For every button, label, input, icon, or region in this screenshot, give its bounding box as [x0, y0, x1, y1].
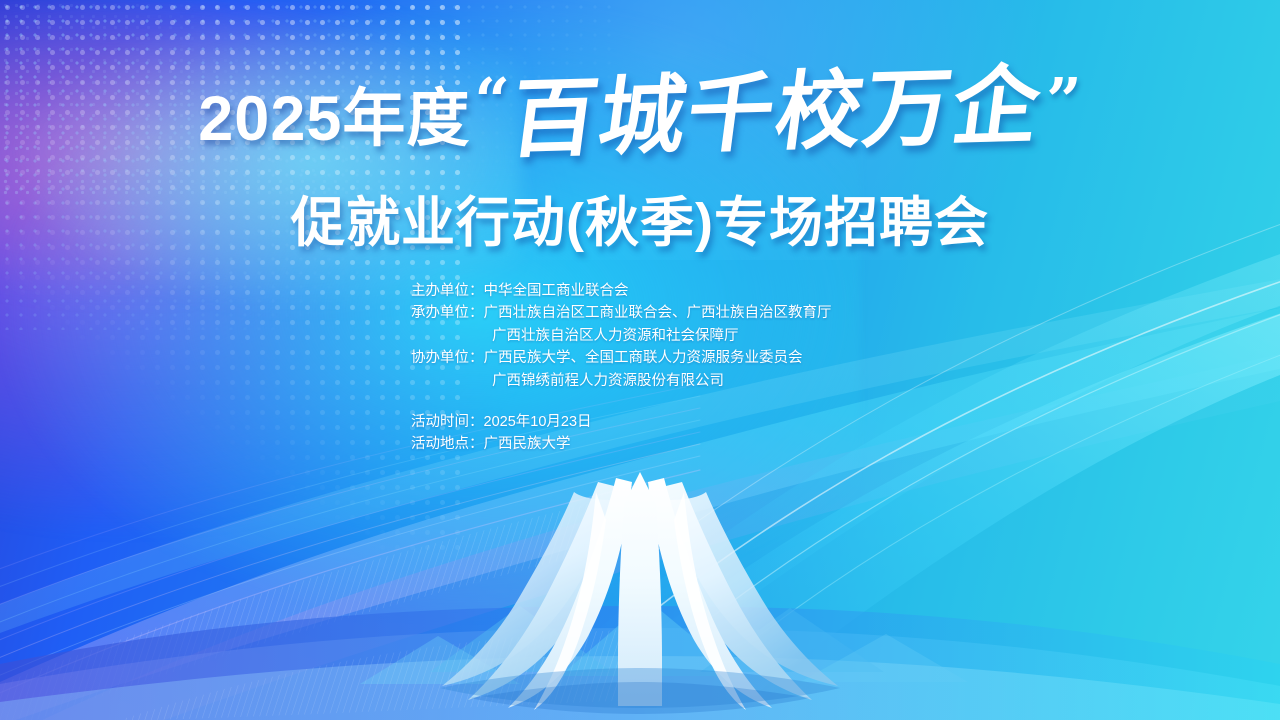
title-quote-close: ”: [1046, 70, 1082, 132]
info-host-line2: 广西壮族自治区人力资源和社会保障厅: [411, 325, 832, 347]
info-place-value: 广西民族大学: [484, 436, 571, 452]
info-organizer-label: 主办单位：: [411, 283, 484, 299]
info-coorganizer-value-1: 广西民族大学、全国工商联人力资源服务业委员会: [484, 350, 803, 366]
info-place: 活动地点：广西民族大学: [411, 433, 832, 455]
event-info-block: 主办单位：中华全国工商业联合会 承办单位：广西壮族自治区工商业联合会、广西壮族自…: [411, 280, 832, 456]
title-slogan: 百城千校万企: [502, 67, 1050, 161]
info-place-label: 活动地点：: [411, 436, 484, 452]
info-spacer: [411, 392, 832, 411]
info-host: 承办单位：广西壮族自治区工商业联合会、广西壮族自治区教育厅: [411, 302, 832, 324]
info-host-label: 承办单位：: [411, 305, 484, 321]
title-year: 2025年度: [198, 88, 470, 153]
main-title: 2025年度 “ 百城千校万企 ”: [0, 74, 1280, 153]
title-quote-open: “: [474, 70, 510, 132]
info-coorganizer: 协办单位：广西民族大学、全国工商联人力资源服务业委员会: [411, 347, 832, 369]
info-organizer: 主办单位：中华全国工商业联合会: [411, 280, 832, 302]
info-host-value-1: 广西壮族自治区工商业联合会、广西壮族自治区教育厅: [484, 305, 832, 321]
info-coorganizer-line2: 广西锦绣前程人力资源股份有限公司: [411, 370, 832, 392]
info-coorganizer-label: 协办单位：: [411, 350, 484, 366]
event-poster: 2025年度 “ 百城千校万企 ” 促就业行动(秋季)专场招聘会 主办单位：中华…: [0, 0, 1280, 720]
info-organizer-value: 中华全国工商业联合会: [484, 283, 629, 299]
info-time: 活动时间：2025年10月23日: [411, 411, 832, 433]
info-time-label: 活动时间：: [411, 414, 484, 430]
info-time-value: 2025年10月23日: [484, 414, 592, 430]
subtitle: 促就业行动(秋季)专场招聘会: [0, 178, 1280, 257]
